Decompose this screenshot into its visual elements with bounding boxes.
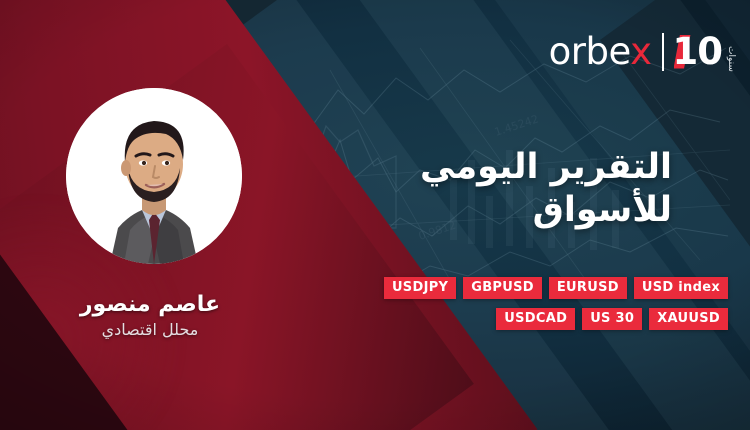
analyst-avatar: [66, 88, 242, 264]
instrument-badge-row-2: USDCAD US 30 XAUUSD: [408, 308, 728, 330]
instrument-badges: USDJPY GBPUSD EURUSD USD index USDCAD US…: [408, 277, 728, 339]
instrument-badge-row-1: USDJPY GBPUSD EURUSD USD index: [408, 277, 728, 299]
instrument-badge[interactable]: USDCAD: [496, 308, 575, 330]
logo-word-main: orbe: [549, 30, 630, 73]
logo-word-accent: x: [630, 30, 651, 73]
instrument-badge[interactable]: US 30: [582, 308, 642, 330]
instrument-badge[interactable]: EURUSD: [549, 277, 627, 299]
instrument-badge[interactable]: USD index: [634, 277, 728, 299]
instrument-badge[interactable]: XAUUSD: [649, 308, 728, 330]
logo-years-label: سنوات: [726, 32, 736, 72]
analyst-info: عاصم منصور محلل اقتصادي: [30, 292, 270, 342]
logo-anniversary: 10: [673, 33, 723, 70]
page-title: التقرير اليومي للأسواق: [342, 146, 672, 231]
market-report-banner: 1.45242 0.9812: [0, 0, 750, 430]
instrument-badge[interactable]: USDJPY: [384, 277, 456, 299]
analyst-role: محلل اقتصادي: [30, 318, 270, 342]
logo-anniversary-number: 10: [673, 30, 723, 73]
analyst-name: عاصم منصور: [30, 292, 270, 318]
logo-wordmark: orbex: [549, 33, 652, 70]
instrument-badge[interactable]: GBPUSD: [463, 277, 542, 299]
orbex-logo[interactable]: orbex 10 سنوات: [549, 26, 736, 78]
logo-divider: [662, 33, 664, 71]
